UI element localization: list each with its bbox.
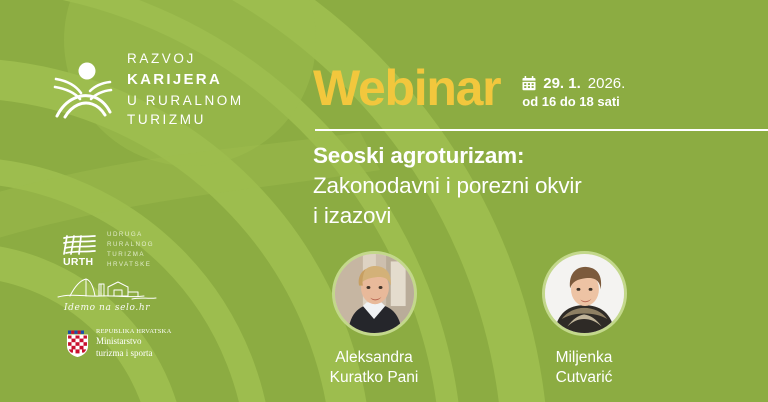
rural-figure-icon: [52, 60, 114, 120]
speaker-name: Aleksandra Kuratko Pani: [330, 348, 419, 388]
speaker-name: Miljenka Cutvarić: [556, 348, 613, 388]
partner-logo-urth: URTH UDRUGA RURALNOG TURIZMA HRVATSKE: [62, 230, 154, 270]
urth-line-3: TURIZMA: [107, 250, 154, 260]
date-block: 29. 1. 2026. od 16 do 18 sati: [522, 63, 625, 109]
date-line: 29. 1. 2026.: [522, 75, 625, 92]
subtitle-line-1: Seoski agroturizam:: [313, 141, 743, 171]
brand-line-2: KARIJERA: [127, 70, 244, 90]
subtitle-line-3: i izazovi: [313, 201, 743, 231]
speaker-portrait: [335, 254, 414, 333]
speaker-card: Aleksandra Kuratko Pani: [313, 251, 435, 388]
speaker-name-line-2: Kuratko Pani: [330, 369, 419, 386]
speakers-list: Aleksandra Kuratko Pani Milj: [313, 251, 645, 388]
urth-acronym: URTH: [63, 256, 93, 267]
speaker-portrait: [545, 254, 624, 333]
speaker-name-line-2: Cutvarić: [556, 369, 613, 386]
subtitle-line-2: Zakonodavni i porezni okvir: [313, 171, 743, 201]
urth-text: UDRUGA RURALNOG TURIZMA HRVATSKE: [107, 230, 154, 270]
avatar: [332, 251, 417, 336]
urth-line-2: RURALNOG: [107, 240, 154, 250]
urth-line-1: UDRUGA: [107, 230, 154, 240]
webinar-poster: RAZVOJ KARIJERA U RURALNOM TURIZMU: [0, 0, 768, 402]
brand-line-1: RAZVOJ: [127, 50, 244, 68]
speaker-name-line-1: Aleksandra: [335, 349, 413, 366]
urth-waves-icon: URTH: [62, 233, 99, 267]
ministry-text: REPUBLIKA HRVATSKA Ministarstvo turizma …: [96, 328, 172, 360]
brand-text: RAZVOJ KARIJERA U RURALNOM TURIZMU: [127, 50, 244, 129]
partner-logo-idemo-na-selo: Idemo na selo.hr: [52, 276, 162, 313]
speaker-card: Miljenka Cutvarić: [523, 251, 645, 388]
croatian-coat-of-arms-icon: [66, 330, 89, 357]
avatar: [542, 251, 627, 336]
speaker-name-line-1: Miljenka: [556, 349, 613, 366]
event-time: od 16 do 18 sati: [522, 94, 625, 109]
date-day-month: 29. 1.: [543, 75, 581, 92]
urth-line-4: HRVATSKE: [107, 260, 154, 270]
left-column: RAZVOJ KARIJERA U RURALNOM TURIZMU: [0, 0, 300, 402]
farmhouse-icon: [52, 276, 162, 302]
ministry-line-2: Ministarstvo: [96, 336, 172, 348]
date-year: 2026.: [588, 75, 626, 92]
calendar-icon: [522, 76, 536, 91]
brand-line-3: U RURALNOM: [127, 92, 244, 110]
idemo-na-selo-wordmark: Idemo na selo.hr: [64, 303, 150, 313]
ministry-line-1: REPUBLIKA HRVATSKA: [96, 328, 172, 336]
page-title: Webinar: [313, 63, 500, 113]
brand-line-4: TURIZMU: [127, 111, 244, 129]
header-divider: [315, 129, 768, 131]
subtitle-block: Seoski agroturizam: Zakonodavni i porezn…: [313, 141, 743, 231]
ministry-line-3: turizma i sporta: [96, 348, 172, 360]
brand-lockup: RAZVOJ KARIJERA U RURALNOM TURIZMU: [52, 50, 244, 129]
headline-row: Webinar 29. 1.: [313, 63, 625, 113]
partner-logo-ministry: REPUBLIKA HRVATSKA Ministarstvo turizma …: [66, 328, 172, 360]
